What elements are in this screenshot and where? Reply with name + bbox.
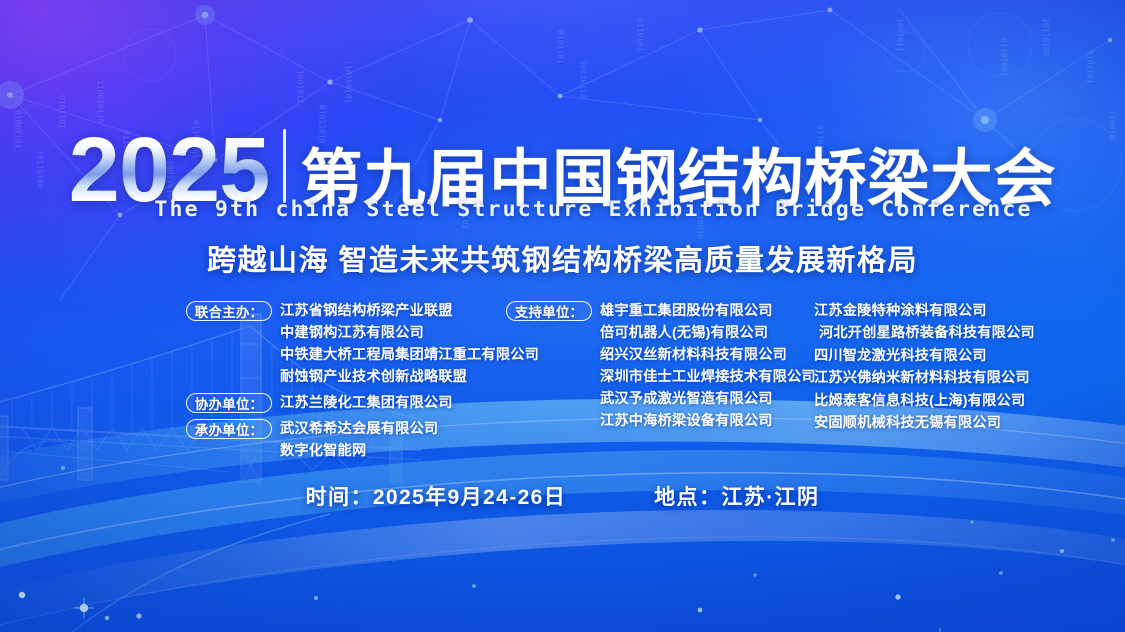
list-item: 耐蚀钢产业技术创新战略联盟 — [280, 366, 539, 388]
list-item: 中铁建大桥工程局集团靖江重工有限公司 — [280, 344, 539, 366]
list-item: 江苏兰陵化工集团有限公司 — [280, 392, 453, 414]
banner-content: 2025 第九届中国钢结构桥梁大会 The 9th china Steel St… — [0, 0, 1125, 632]
list-item: 雄宇重工集团股份有限公司 — [600, 300, 816, 322]
list-item: 安固顺机械科技无锡有限公司 — [814, 412, 1116, 434]
label-co-organizer: 协办单位： — [186, 393, 272, 413]
sponsor-group-co-organizer: 协办单位： 江苏兰陵化工集团有限公司 — [186, 392, 506, 414]
list-item: 江苏省钢结构桥梁产业联盟 — [280, 300, 539, 322]
list-item: 中建钢构江苏有限公司 — [280, 322, 539, 344]
sponsor-group-undertaker: 承办单位： 武汉希希达会展有限公司 数字化智能网 — [186, 418, 506, 462]
label-undertaker: 承办单位： — [186, 419, 272, 439]
list-item: 绍兴汉丝新材料科技有限公司 — [600, 344, 816, 366]
list-item: 倍可机器人(无锡)有限公司 — [600, 322, 816, 344]
list-item: 江苏兴佛纳米新材料科技有限公司 — [814, 367, 1116, 389]
supporter-names-continued: 江苏金陵特种涂料有限公司 河北开创星路桥装备科技有限公司 四川智龙激光科技有限公… — [814, 300, 1116, 434]
title-divider — [283, 129, 286, 203]
slogan: 跨越山海 智造未来共筑钢结构桥梁高质量发展新格局 — [0, 237, 1125, 279]
sponsor-column-left: 联合主办： 江苏省钢结构桥梁产业联盟 中建钢构江苏有限公司 中铁建大桥工程局集团… — [186, 300, 506, 462]
conference-banner: 01001101 10110100 0101101 110010110 0110… — [0, 0, 1125, 632]
label-joint-host: 联合主办： — [186, 301, 272, 321]
supporter-names: 雄宇重工集团股份有限公司 倍可机器人(无锡)有限公司 绍兴汉丝新材料科技有限公司… — [600, 300, 816, 432]
event-date: 时间：2025年9月24-26日 — [306, 481, 567, 511]
list-item: 江苏金陵特种涂料有限公司 — [814, 300, 1116, 322]
list-item: 比姆泰客信息科技(上海)有限公司 — [814, 390, 1116, 412]
event-location: 地点：江苏·江阴 — [654, 481, 819, 511]
list-item: 数字化智能网 — [280, 440, 438, 462]
co-organizer-names: 江苏兰陵化工集团有限公司 — [280, 392, 453, 414]
list-item: 深圳市佳士工业焊接技术有限公司 — [600, 366, 816, 388]
list-item: 河北开创星路桥装备科技有限公司 — [814, 322, 1116, 344]
sponsor-column-middle: 支持单位： 雄宇重工集团股份有限公司 倍可机器人(无锡)有限公司 绍兴汉丝新材料… — [506, 300, 806, 432]
label-supporter: 支持单位： — [506, 301, 592, 321]
joint-host-names: 江苏省钢结构桥梁产业联盟 中建钢构江苏有限公司 中铁建大桥工程局集团靖江重工有限… — [280, 300, 539, 388]
list-item: 四川智龙激光科技有限公司 — [814, 345, 1116, 367]
sponsor-group-supporters: 支持单位： 雄宇重工集团股份有限公司 倍可机器人(无锡)有限公司 绍兴汉丝新材料… — [506, 300, 806, 432]
footer-info: 时间：2025年9月24-26日 地点：江苏·江阴 — [0, 481, 1125, 511]
list-item: 江苏中海桥梁设备有限公司 — [600, 410, 816, 432]
sponsor-group-joint-host: 联合主办： 江苏省钢结构桥梁产业联盟 中建钢构江苏有限公司 中铁建大桥工程局集团… — [186, 300, 506, 388]
list-item: 武汉予成激光智造有限公司 — [600, 388, 816, 410]
list-item: 武汉希希达会展有限公司 — [280, 418, 438, 440]
undertaker-names: 武汉希希达会展有限公司 数字化智能网 — [280, 418, 438, 462]
sponsor-section: 联合主办： 江苏省钢结构桥梁产业联盟 中建钢构江苏有限公司 中铁建大桥工程局集团… — [0, 300, 1125, 450]
sponsor-column-right: 江苏金陵特种涂料有限公司 河北开创星路桥装备科技有限公司 四川智龙激光科技有限公… — [806, 300, 1116, 434]
subtitle-english: The 9th china Steel Structure Exhibition… — [0, 197, 1125, 222]
